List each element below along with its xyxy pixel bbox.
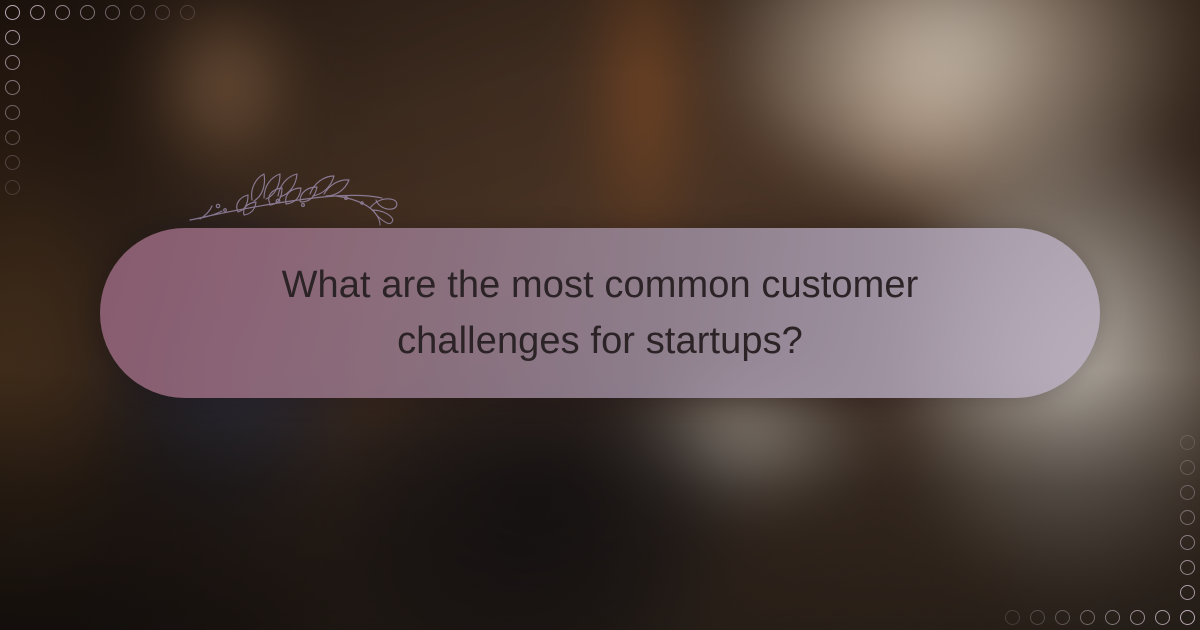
background-bottom-shade bbox=[0, 370, 1200, 630]
question-banner: What are the most common customer challe… bbox=[100, 228, 1100, 398]
question-text: What are the most common customer challe… bbox=[260, 257, 940, 369]
botanical-branch-ornament bbox=[186, 168, 406, 230]
slide-canvas: What are the most common customer challe… bbox=[0, 0, 1200, 630]
